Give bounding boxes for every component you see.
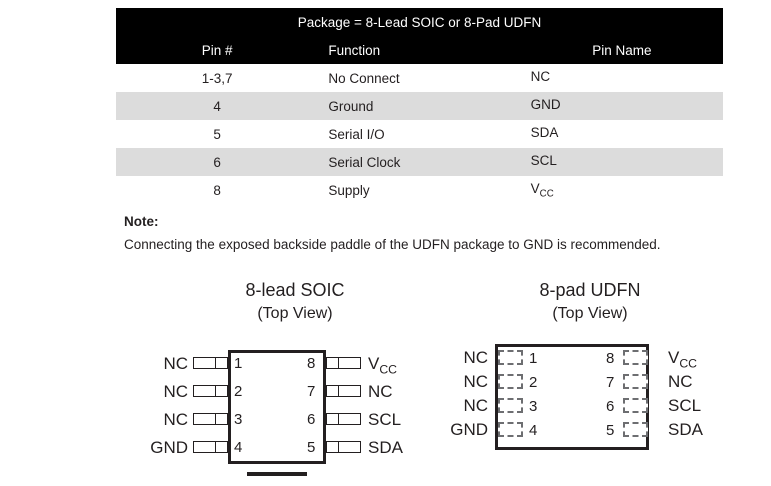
udfn-pin-number-8: 8 bbox=[606, 351, 614, 366]
pin-name-text: NC bbox=[531, 69, 551, 84]
udfn-pin-number-2: 2 bbox=[529, 375, 537, 390]
note-block: Note: Connecting the exposed backside pa… bbox=[124, 212, 744, 255]
cell-pin-name: SDA bbox=[521, 120, 723, 148]
soic-pin-label-4: GND bbox=[150, 439, 188, 462]
pin-name-subscript: CC bbox=[540, 188, 554, 199]
udfn-pad-2 bbox=[498, 374, 523, 389]
soic-pin-label-8-text: V bbox=[368, 354, 379, 373]
udfn-pin-label-2-text: NC bbox=[463, 372, 488, 391]
udfn-pin-label-4: GND bbox=[450, 421, 488, 444]
udfn-pin-label-1: NC bbox=[463, 349, 488, 372]
udfn-pin-label-7-text: NC bbox=[668, 372, 693, 391]
cell-function: No Connect bbox=[318, 64, 520, 92]
soic-pin-number-7: 7 bbox=[307, 384, 315, 399]
pin-name-text: V bbox=[531, 181, 540, 196]
soic-package-diagram: 8-lead SOIC (Top View) 1 2 3 4 NC NC NC … bbox=[150, 280, 440, 486]
cell-pin-name: NC bbox=[521, 64, 723, 92]
soic-lead-4 bbox=[193, 441, 228, 453]
soic-pin-label-6-text: SCL bbox=[368, 410, 401, 429]
soic-pin-label-6: SCL bbox=[368, 411, 401, 434]
pin-name-text: SCL bbox=[531, 153, 557, 168]
note-label: Note: bbox=[124, 212, 744, 232]
udfn-pin-number-3: 3 bbox=[529, 399, 537, 414]
soic-pin-label-5-text: SDA bbox=[368, 438, 403, 457]
udfn-diagram-subtitle: (Top View) bbox=[440, 305, 740, 323]
pin-name-text: GND bbox=[531, 97, 561, 112]
cell-pin-name: GND bbox=[521, 92, 723, 120]
cell-pin: 5 bbox=[116, 120, 318, 148]
soic-pin-label-5: SDA bbox=[368, 439, 403, 462]
udfn-pin-label-5-text: SDA bbox=[668, 420, 703, 439]
soic-lead-7 bbox=[326, 385, 361, 397]
udfn-package-diagram: 8-pad UDFN (Top View) 1 2 3 4 NC NC NC G… bbox=[440, 280, 740, 486]
udfn-diagram-title: 8-pad UDFN bbox=[440, 280, 740, 301]
table-header-row: Pin # Function Pin Name bbox=[116, 36, 723, 64]
soic-orientation-tab bbox=[247, 472, 307, 476]
udfn-pad-7 bbox=[623, 374, 648, 389]
soic-pin-label-8-sub: CC bbox=[379, 362, 397, 376]
soic-pin-label-1: NC bbox=[163, 355, 188, 378]
pin-description-table: Package = 8-Lead SOIC or 8-Pad UDFN Pin … bbox=[116, 8, 723, 204]
pin-name-text: SDA bbox=[531, 125, 559, 140]
table-row: 6 Serial Clock SCL bbox=[116, 148, 723, 176]
soic-pin-label-4-text: GND bbox=[150, 438, 188, 457]
soic-lead-5 bbox=[326, 441, 361, 453]
table-title: Package = 8-Lead SOIC or 8-Pad UDFN bbox=[116, 8, 723, 36]
soic-pin-number-2: 2 bbox=[234, 384, 242, 399]
udfn-pin-label-2: NC bbox=[463, 373, 488, 396]
column-header-pin: Pin # bbox=[116, 36, 318, 64]
udfn-pin-label-4-text: GND bbox=[450, 420, 488, 439]
soic-diagram-title: 8-lead SOIC bbox=[150, 280, 440, 301]
note-text: Connecting the exposed backside paddle o… bbox=[124, 235, 744, 255]
udfn-pin-label-7: NC bbox=[668, 373, 693, 396]
soic-pin-label-3-text: NC bbox=[163, 410, 188, 429]
cell-pin: 4 bbox=[116, 92, 318, 120]
udfn-pad-4 bbox=[498, 422, 523, 437]
soic-pin-label-7-text: NC bbox=[368, 382, 393, 401]
soic-pin-label-1-text: NC bbox=[163, 354, 188, 373]
column-header-pin-name: Pin Name bbox=[521, 36, 723, 64]
udfn-pin-label-1-text: NC bbox=[463, 348, 488, 367]
soic-pin-number-5: 5 bbox=[307, 440, 315, 455]
soic-lead-8 bbox=[326, 357, 361, 369]
cell-function: Ground bbox=[318, 92, 520, 120]
soic-pin-number-4: 4 bbox=[234, 440, 242, 455]
udfn-pin-label-3-text: NC bbox=[463, 396, 488, 415]
soic-pin-label-2: NC bbox=[163, 383, 188, 406]
udfn-pin-label-5: SDA bbox=[668, 421, 703, 444]
udfn-pin-label-6-text: SCL bbox=[668, 396, 701, 415]
cell-function: Serial Clock bbox=[318, 148, 520, 176]
soic-pin-number-3: 3 bbox=[234, 412, 242, 427]
soic-lead-1 bbox=[193, 357, 228, 369]
udfn-pad-3 bbox=[498, 398, 523, 413]
soic-pin-label-3: NC bbox=[163, 411, 188, 434]
soic-pin-label-8: VCC bbox=[368, 355, 397, 378]
udfn-pin-number-6: 6 bbox=[606, 399, 614, 414]
udfn-pin-label-6: SCL bbox=[668, 397, 701, 420]
soic-pin-number-6: 6 bbox=[307, 412, 315, 427]
udfn-pad-1 bbox=[498, 350, 523, 365]
soic-pin-label-7: NC bbox=[368, 383, 393, 406]
soic-pin-label-2-text: NC bbox=[163, 382, 188, 401]
udfn-pin-label-3: NC bbox=[463, 397, 488, 420]
table-row: 8 Supply VCC bbox=[116, 176, 723, 204]
table-row: 1-3,7 No Connect NC bbox=[116, 64, 723, 92]
soic-lead-6 bbox=[326, 413, 361, 425]
udfn-pin-number-4: 4 bbox=[529, 423, 537, 438]
cell-function: Serial I/O bbox=[318, 120, 520, 148]
udfn-pin-label-8-sub: CC bbox=[679, 356, 697, 370]
table-row: 4 Ground GND bbox=[116, 92, 723, 120]
cell-pin: 1-3,7 bbox=[116, 64, 318, 92]
soic-pin-number-1: 1 bbox=[234, 356, 242, 371]
soic-lead-2 bbox=[193, 385, 228, 397]
soic-pin-number-8: 8 bbox=[307, 356, 315, 371]
udfn-pad-6 bbox=[623, 398, 648, 413]
cell-pin-name: VCC bbox=[521, 176, 723, 204]
udfn-pad-5 bbox=[623, 422, 648, 437]
cell-pin-name: SCL bbox=[521, 148, 723, 176]
table-title-row: Package = 8-Lead SOIC or 8-Pad UDFN bbox=[116, 8, 723, 36]
udfn-pin-label-8-text: V bbox=[668, 348, 679, 367]
table-row: 5 Serial I/O SDA bbox=[116, 120, 723, 148]
udfn-pin-number-1: 1 bbox=[529, 351, 537, 366]
udfn-pad-8 bbox=[623, 350, 648, 365]
cell-function: Supply bbox=[318, 176, 520, 204]
udfn-pin-label-8: VCC bbox=[668, 349, 697, 372]
udfn-pin-number-7: 7 bbox=[606, 375, 614, 390]
cell-pin: 8 bbox=[116, 176, 318, 204]
soic-lead-3 bbox=[193, 413, 228, 425]
udfn-pin-number-5: 5 bbox=[606, 423, 614, 438]
cell-pin: 6 bbox=[116, 148, 318, 176]
column-header-function: Function bbox=[318, 36, 520, 64]
soic-diagram-subtitle: (Top View) bbox=[150, 305, 440, 323]
